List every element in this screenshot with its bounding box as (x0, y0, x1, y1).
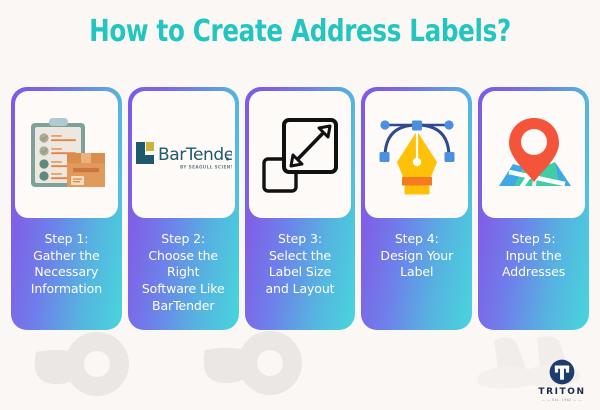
page-title-container: How to Create Address Labels? (0, 14, 600, 49)
step-3-icon-panel (249, 91, 352, 218)
step-2-icon-panel: BarTender BY SEAGULL SCIENTIFIC (132, 91, 235, 218)
triton-logo[interactable]: TRITON — — Est. 1982 — — (533, 359, 591, 403)
pen-nib-bezier-icon (375, 113, 459, 197)
step-3-label: Step 3:Select theLabel Sizeand Layout (263, 218, 338, 298)
step-2-label: Step 2:Choose theRightSoftware LikeBarTe… (139, 218, 228, 314)
step-4-label: Step 4:Design YourLabel (377, 218, 456, 281)
step-card-4[interactable]: Step 4:Design YourLabel (361, 87, 472, 330)
clipboard-checklist-delivery-box-icon (23, 115, 109, 195)
step-card-5[interactable]: Step 5:Input theAddresses (478, 87, 589, 330)
triton-trident-icon (549, 359, 575, 385)
triton-brand-name: TRITON (538, 387, 585, 397)
map-pin-location-icon (491, 114, 577, 196)
triton-tagline: — — Est. 1982 — — (542, 398, 582, 402)
step-card-3[interactable]: Step 3:Select theLabel Sizeand Layout (245, 87, 356, 330)
step-4-icon-panel (365, 91, 468, 218)
step-5-icon-panel (482, 91, 585, 218)
bartender-logo: BarTender BY SEAGULL SCIENTIFIC (134, 138, 232, 172)
steps-row: Step 1:Gather theNecessaryInformation Ba… (11, 87, 589, 330)
resize-squares-diagonal-arrow-icon (260, 115, 340, 195)
svg-text:BY SEAGULL SCIENTIFIC: BY SEAGULL SCIENTIFIC (180, 164, 232, 169)
step-card-2[interactable]: BarTender BY SEAGULL SCIENTIFIC Step 2:C… (128, 87, 239, 330)
svg-text:BarTender: BarTender (158, 145, 232, 165)
step-1-label: Step 1:Gather theNecessaryInformation (28, 218, 105, 298)
step-card-1[interactable]: Step 1:Gather theNecessaryInformation (11, 87, 122, 330)
step-1-icon-panel (15, 91, 118, 218)
page-title: How to Create Address Labels? (54, 14, 546, 49)
step-5-label: Step 5:Input theAddresses (499, 218, 568, 281)
